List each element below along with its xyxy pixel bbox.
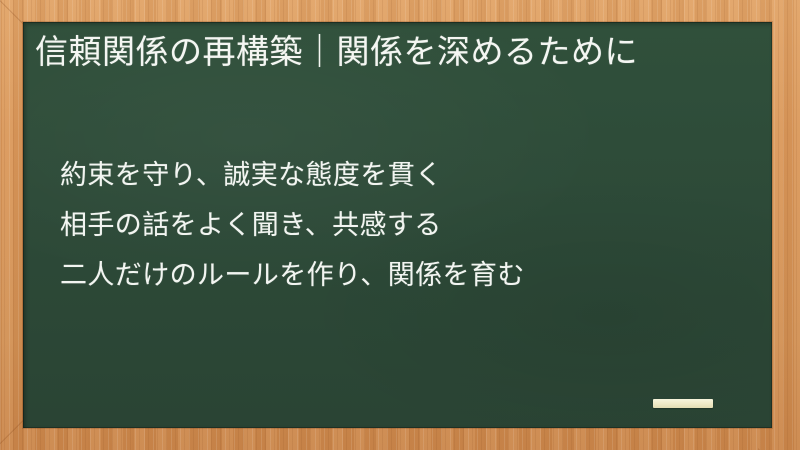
slide-bullet-list: 約束を守り、誠実な態度を貫く 相手の話をよく聞き、共感する 二人だけのルールを作…	[35, 150, 755, 300]
list-item: 二人だけのルールを作り、関係を育む	[35, 250, 755, 300]
chalkboard-content: 信頼関係の再構築｜関係を深めるために 約束を守り、誠実な態度を貫く 相手の話をよ…	[23, 22, 772, 428]
chalk-stick-icon	[653, 399, 713, 408]
chalkboard-surface: 信頼関係の再構築｜関係を深めるために 約束を守り、誠実な態度を貫く 相手の話をよ…	[23, 22, 772, 428]
slide-canvas: 信頼関係の再構築｜関係を深めるために 約束を守り、誠実な態度を貫く 相手の話をよ…	[0, 0, 800, 450]
list-item: 相手の話をよく聞き、共感する	[35, 200, 755, 250]
slide-title: 信頼関係の再構築｜関係を深めるために	[35, 27, 745, 77]
list-item: 約束を守り、誠実な態度を貫く	[35, 150, 755, 200]
